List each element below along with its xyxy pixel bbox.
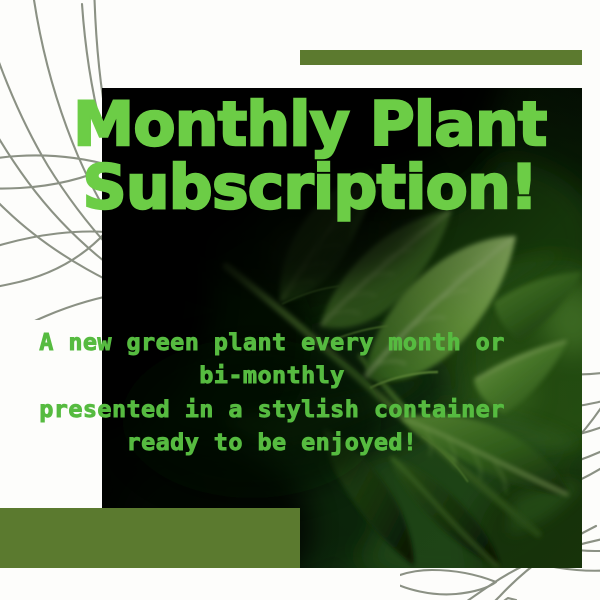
accent-bar-top [300,50,582,65]
description-line-3: presented in a stylish container [0,393,552,426]
page-title-line-2: Subscription! [50,159,570,216]
accent-block-bottom [0,508,300,568]
description-line-4: ready to be enjoyed! [0,426,552,459]
description-line-2: bi-monthly [0,359,552,392]
page-title: Monthly Plant Subscription! [50,96,570,217]
poster-canvas: Monthly Plant Subscription! A new green … [0,0,600,600]
description-line-1: A new green plant every month or [0,326,552,359]
page-title-line-1: Monthly Plant [50,96,570,153]
description-text: A new green plant every month or bi-mont… [0,326,552,459]
